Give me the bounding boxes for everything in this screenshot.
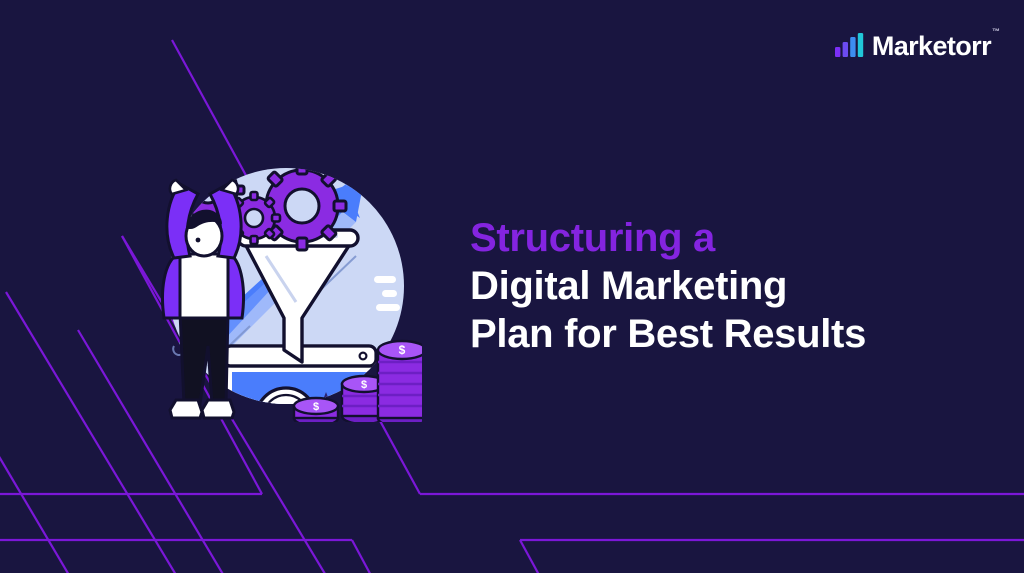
bar-chart-logo-icon xyxy=(835,33,865,57)
coin-stack-small: $ xyxy=(294,398,338,422)
headline-line-3: Plan for Best Results xyxy=(470,310,970,358)
marketing-banner: Marketorr ™ Structuring a Digital Market… xyxy=(0,0,1024,573)
headline: Structuring a Digital Marketing Plan for… xyxy=(470,214,970,358)
svg-text:$: $ xyxy=(313,401,319,413)
logo-wordmark: Marketorr xyxy=(872,32,991,60)
brand-logo[interactable]: Marketorr ™ xyxy=(835,26,1000,60)
headline-line-1: Structuring a xyxy=(470,214,970,262)
coin-stack-large: $ xyxy=(378,341,422,422)
svg-text:$: $ xyxy=(399,343,406,357)
trademark-symbol: ™ xyxy=(992,28,1000,36)
svg-text:$: $ xyxy=(277,402,296,422)
marketing-funnel-illustration: $ xyxy=(150,150,422,422)
headline-line-2: Digital Marketing xyxy=(470,262,970,310)
svg-text:$: $ xyxy=(361,379,367,391)
